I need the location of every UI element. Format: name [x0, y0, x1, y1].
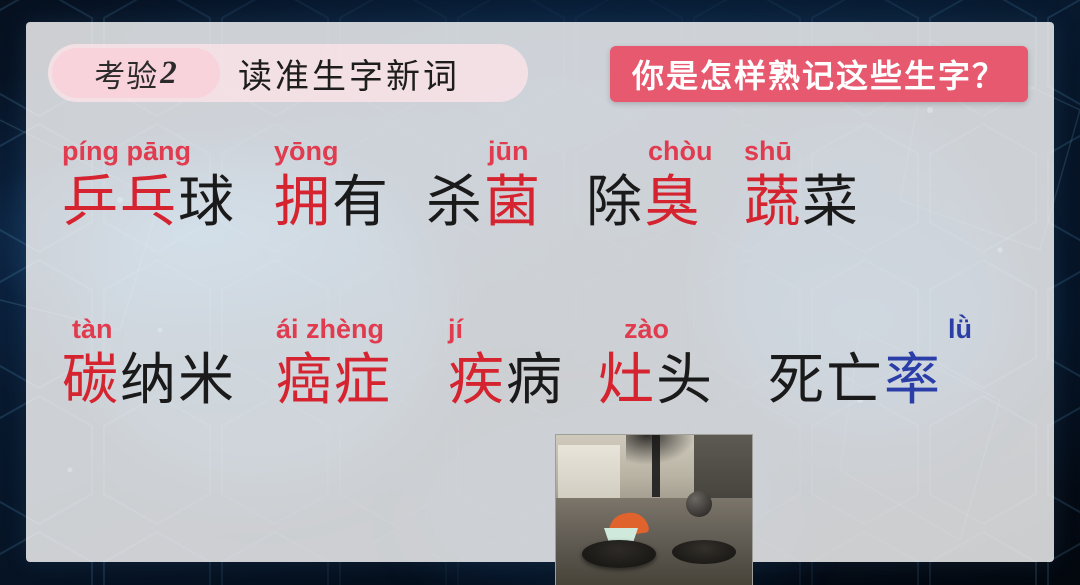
hanzi-plain: 死亡 — [768, 350, 884, 412]
word-item[interactable]: yōng 拥有 — [274, 136, 390, 233]
pinyin-text: shū — [744, 136, 860, 170]
pinyin-text: tàn — [72, 314, 236, 348]
slide-canvas: 考验 2 读准生字新词 你是怎样熟记这些生字？ píng pāng 乒乓球 yō… — [0, 0, 1080, 585]
section-tag-pill: 考验 2 — [52, 48, 220, 98]
word-item[interactable]: chòu 除臭 — [586, 136, 713, 233]
hanzi-text: 杀菌 — [426, 174, 542, 233]
photo-wok-right — [672, 540, 736, 564]
question-banner-text: 你是怎样熟记这些生字？ — [632, 51, 1006, 97]
section-title-bar: 考验 2 读准生字新词 — [48, 44, 528, 102]
hanzi-text: 乒乓球 — [62, 174, 236, 233]
word-item[interactable]: píng pāng 乒乓球 — [62, 136, 236, 233]
hanzi-text: 碳纳米 — [62, 352, 236, 411]
hanzi-plain: 除 — [586, 172, 644, 234]
hanzi-plain: 菜 — [802, 172, 860, 234]
section-tag-label: 考验 — [94, 51, 158, 96]
hanzi-text: 除臭 — [586, 174, 713, 233]
hanzi-plain: 头 — [656, 350, 714, 412]
hanzi-text: 疾病 — [448, 352, 564, 411]
word-item[interactable]: ái zhèng 癌症 — [276, 314, 392, 411]
section-tag-number: 2 — [160, 55, 178, 92]
hanzi-plain: 球 — [178, 172, 236, 234]
hanzi-text: 癌症 — [276, 352, 392, 411]
hanzi-highlight: 灶 — [598, 350, 656, 412]
pinyin-text: píng pāng — [62, 136, 236, 170]
pinyin-text: jūn — [488, 136, 542, 170]
hanzi-plain: 纳米 — [120, 350, 236, 412]
hanzi-highlight: 癌症 — [276, 350, 392, 412]
word-item[interactable]: shū 蔬菜 — [744, 136, 860, 233]
pinyin-text: zào — [624, 314, 714, 348]
word-row-1: píng pāng 乒乓球 yōng 拥有 jūn 杀菌 chòu 除臭 shū… — [26, 126, 1054, 276]
hanzi-text: 拥有 — [274, 174, 390, 233]
kitchen-stove-photo — [555, 434, 753, 585]
pinyin-text: jí — [448, 314, 564, 348]
photo-hanging-items — [626, 435, 696, 465]
hanzi-highlight: 乒乓 — [62, 172, 178, 234]
hanzi-highlight: 拥 — [274, 172, 332, 234]
word-item[interactable]: lǜ 死亡率 — [768, 314, 972, 411]
hanzi-plain: 杀 — [426, 172, 484, 234]
question-banner: 你是怎样熟记这些生字？ — [610, 46, 1028, 102]
hanzi-text: 灶头 — [598, 352, 714, 411]
word-item[interactable]: jí 疾病 — [448, 314, 564, 411]
hanzi-text: 死亡率 — [768, 352, 972, 411]
pinyin-text: chòu — [648, 136, 713, 170]
content-panel: 考验 2 读准生字新词 你是怎样熟记这些生字？ píng pāng 乒乓球 yō… — [26, 22, 1054, 562]
word-item[interactable]: zào 灶头 — [598, 314, 714, 411]
word-item[interactable]: jūn 杀菌 — [426, 136, 542, 233]
pinyin-text: ái zhèng — [276, 314, 392, 348]
photo-wok-left — [582, 540, 656, 568]
slide-header: 考验 2 读准生字新词 你是怎样熟记这些生字？ — [26, 22, 1054, 114]
photo-dark-pot — [686, 491, 712, 517]
hanzi-plain: 病 — [506, 350, 564, 412]
hanzi-highlight: 疾 — [448, 350, 506, 412]
hanzi-text: 蔬菜 — [744, 174, 860, 233]
word-row-2: tàn 碳纳米 ái zhèng 癌症 jí 疾病 zào 灶头 lǜ 死亡率 — [26, 304, 1054, 454]
hanzi-highlight: 率 — [884, 350, 942, 412]
hanzi-plain: 有 — [332, 172, 390, 234]
hanzi-highlight: 臭 — [644, 172, 702, 234]
hanzi-highlight: 碳 — [62, 350, 120, 412]
section-tag-text: 读准生字新词 — [238, 49, 460, 98]
pinyin-text: lǜ — [948, 314, 972, 348]
pinyin-text: yōng — [274, 136, 390, 170]
hanzi-highlight: 菌 — [484, 172, 542, 234]
hanzi-highlight: 蔬 — [744, 172, 802, 234]
word-item[interactable]: tàn 碳纳米 — [62, 314, 236, 411]
